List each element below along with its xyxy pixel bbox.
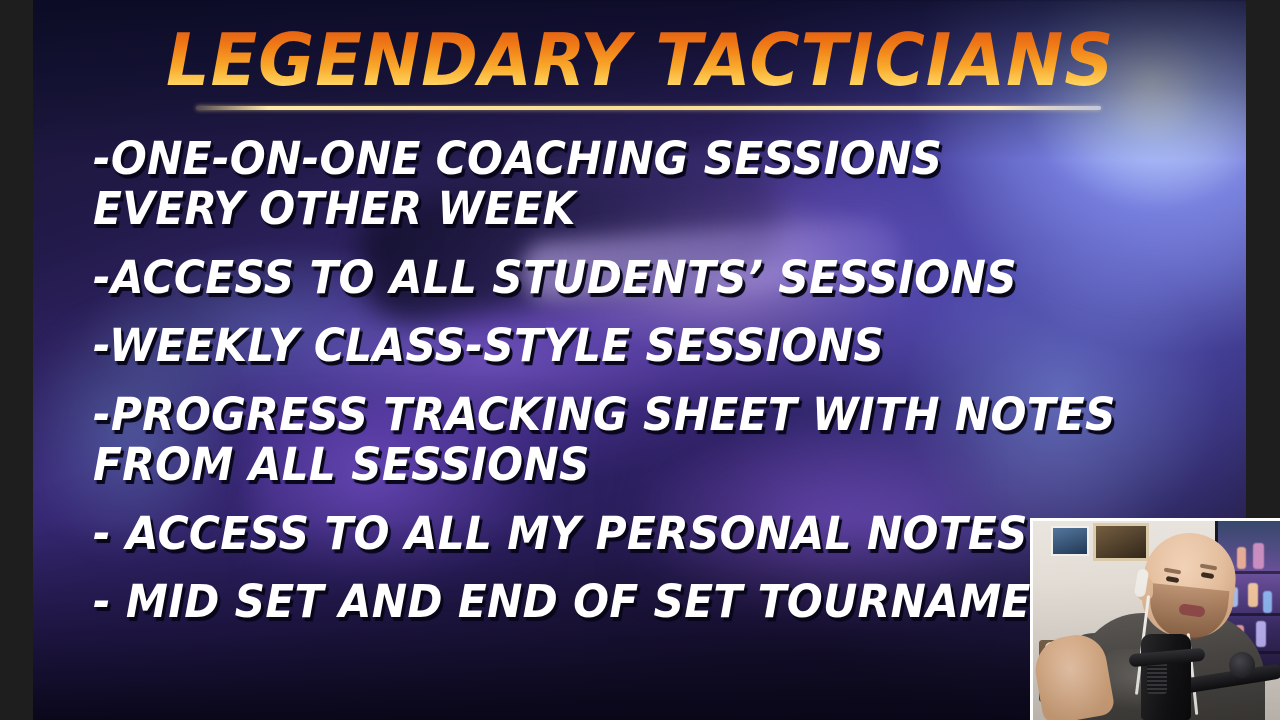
title-container: LEGENDARY TACTICIANS bbox=[0, 26, 1280, 94]
shelf-figure bbox=[1263, 591, 1272, 613]
shelf-figure bbox=[1256, 621, 1266, 647]
shelf-figure bbox=[1253, 543, 1264, 569]
title-underline bbox=[196, 106, 1101, 110]
bullet-line-2: EVERY OTHER WEEK bbox=[93, 184, 1171, 234]
list-item: - ACCESS TO ALL MY PERSONAL NOTES bbox=[93, 510, 1171, 558]
list-item: - MID SET AND END OF SET TOURNAMENTS bbox=[93, 578, 1171, 626]
page-title: LEGENDARY TACTICIANS bbox=[166, 26, 1114, 94]
wall-poster-right bbox=[1093, 523, 1149, 561]
webcam-overlay[interactable] bbox=[1030, 518, 1280, 720]
list-item: -ONE-ON-ONE COACHING SESSIONS EVERY OTHE… bbox=[93, 134, 1171, 234]
bullet-line-1: -WEEKLY CLASS-STYLE SESSIONS bbox=[93, 319, 884, 372]
shelf-figure bbox=[1248, 583, 1258, 607]
webcam-video bbox=[1033, 521, 1280, 720]
bullet-line-1: -ONE-ON-ONE COACHING SESSIONS bbox=[93, 132, 942, 185]
letterbox-bar-left bbox=[0, 0, 33, 720]
bullet-line-1: -ACCESS TO ALL STUDENTS’ SESSIONS bbox=[93, 251, 1017, 304]
video-frame: LEGENDARY TACTICIANS -ONE-ON-ONE COACHIN… bbox=[0, 0, 1280, 720]
list-item: -WEEKLY CLASS-STYLE SESSIONS bbox=[93, 322, 1171, 370]
wall-poster-left bbox=[1051, 526, 1089, 556]
list-item: -ACCESS TO ALL STUDENTS’ SESSIONS bbox=[93, 254, 1171, 302]
bullet-line-1: - MID SET AND END OF SET TOURNAMENTS bbox=[93, 575, 1126, 628]
bullet-line-2: FROM ALL SESSIONS bbox=[93, 440, 1171, 490]
shelf-figure bbox=[1237, 547, 1246, 569]
list-item: -PROGRESS TRACKING SHEET WITH NOTES FROM… bbox=[93, 390, 1171, 490]
bullet-line-1: -PROGRESS TRACKING SHEET WITH NOTES bbox=[93, 388, 1116, 441]
bullet-line-1: - ACCESS TO ALL MY PERSONAL NOTES bbox=[93, 507, 1028, 560]
microphone-joint bbox=[1229, 652, 1255, 678]
